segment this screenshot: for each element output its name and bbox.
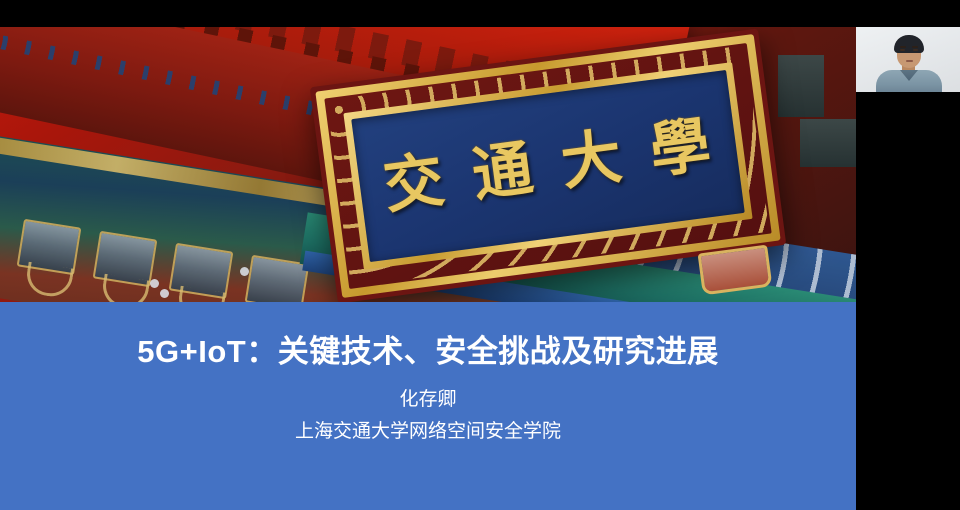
speaker-eyebrow-right (912, 46, 918, 48)
speaker-eye-left (900, 49, 905, 51)
speaker-mouth (906, 60, 913, 62)
slide-author: 化存卿 (0, 384, 856, 411)
speaker-eyebrow-left (900, 46, 906, 48)
plaque-character-4: 學 (646, 115, 715, 183)
photo-paint-dot (150, 279, 159, 288)
photo-dark-bracket (778, 55, 824, 117)
photo-dark-bracket (800, 119, 856, 167)
participant-rail (856, 0, 960, 510)
slide-title: 5G+IoT：关键技术、安全挑战及研究进展 (0, 326, 856, 371)
photo-paint-dot (240, 267, 249, 276)
speaker-video[interactable] (856, 27, 960, 92)
plaque-character-1: 交 (380, 150, 449, 218)
slide-affiliation: 上海交通大学网络空间安全学院 (0, 416, 856, 443)
slide-title-band: 5G+IoT：关键技术、安全挑战及研究进展 化存卿 上海交通大学网络空间安全学院 (0, 302, 856, 510)
meeting-screen: 交 通 大 學 5G+IoT：关键技术、安全挑战及研究进展 化存卿 上海交通大学… (0, 0, 960, 510)
speaker-eye-right (913, 49, 918, 51)
traditional-chinese-gate-photo: 交 通 大 學 (0, 27, 856, 302)
plaque-character-3: 大 (558, 126, 627, 194)
shared-screen-slide[interactable]: 交 通 大 學 5G+IoT：关键技术、安全挑战及研究进展 化存卿 上海交通大学… (0, 0, 856, 510)
photo-paint-dot (160, 289, 169, 298)
plaque-character-2: 通 (469, 138, 538, 206)
